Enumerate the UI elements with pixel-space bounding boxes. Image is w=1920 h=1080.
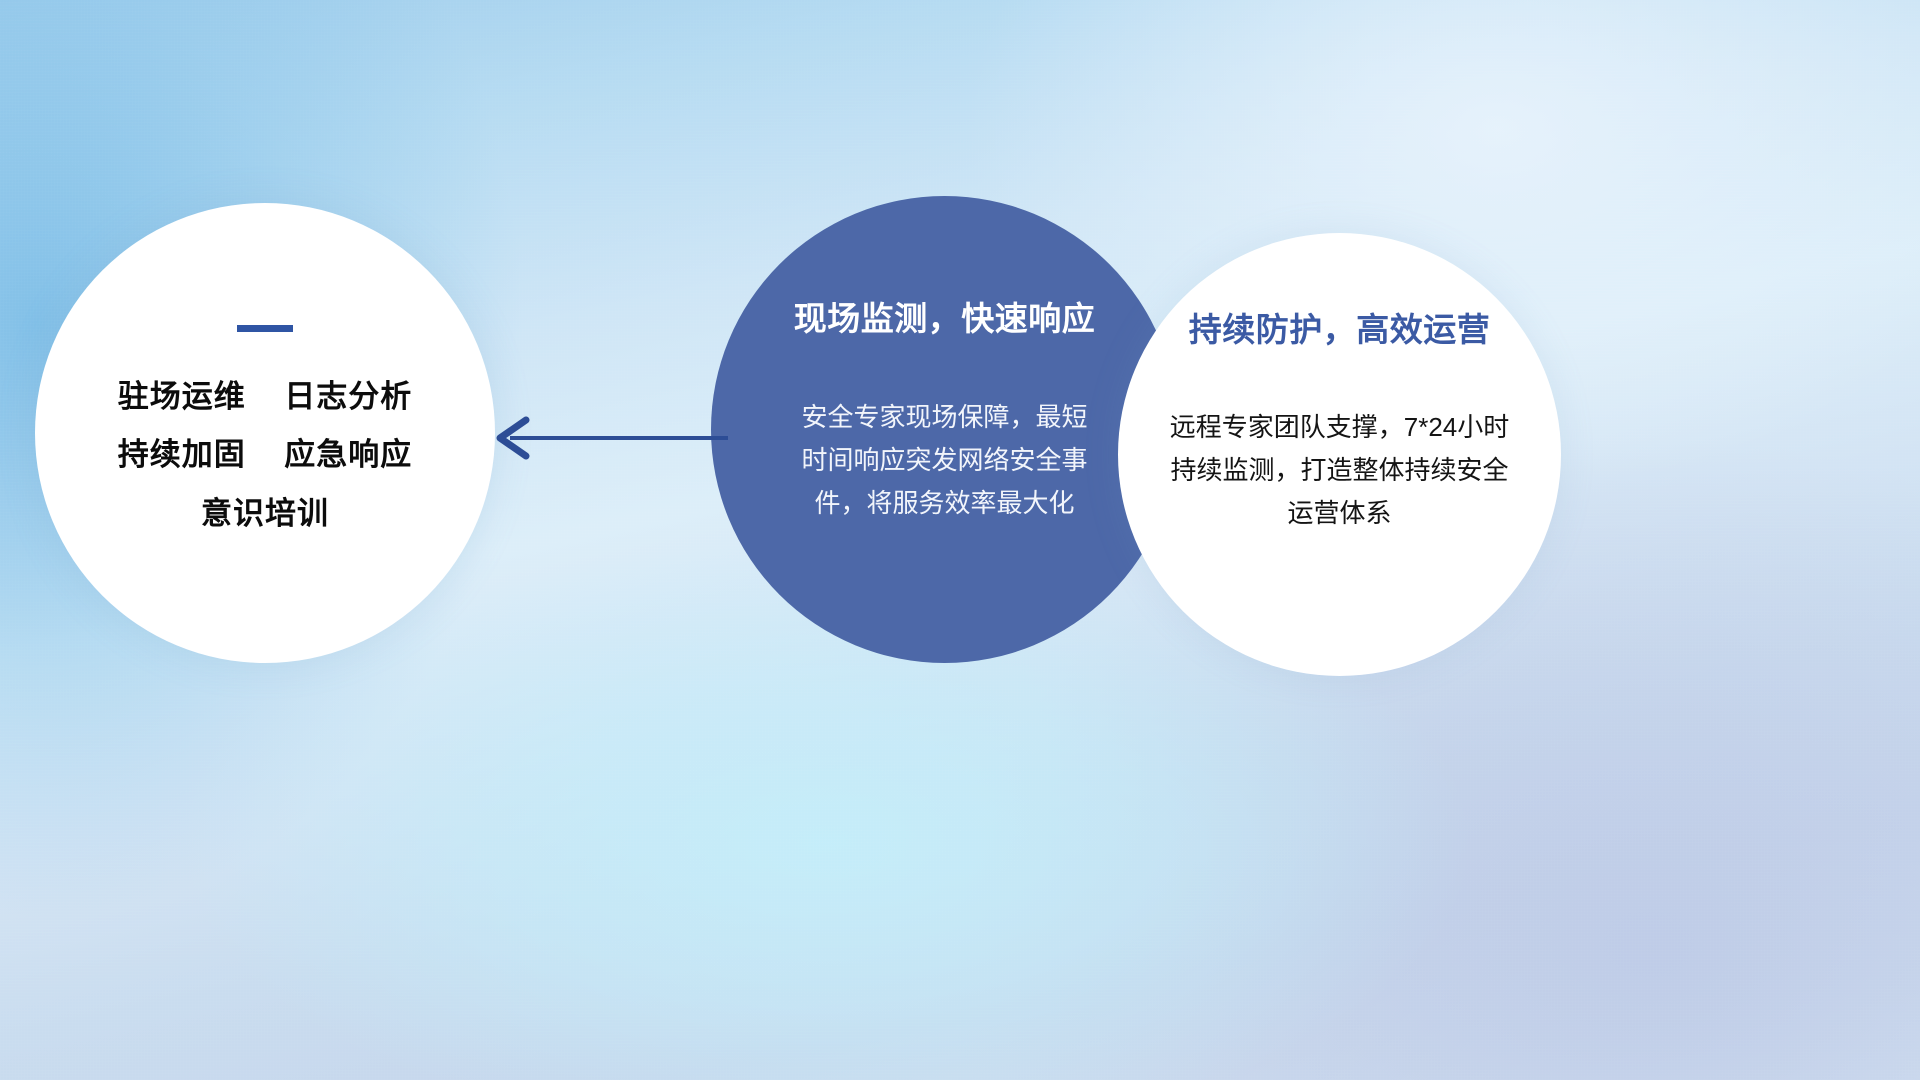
list-item: 持续加固 应急响应: [35, 426, 495, 484]
left-keywords-circle: 驻场运维 日志分析 持续加固 应急响应 意识培训: [35, 203, 495, 663]
left-arrow-icon: [480, 408, 730, 468]
list-item: 意识培训: [35, 485, 495, 543]
infographic-canvas: 驻场运维 日志分析 持续加固 应急响应 意识培训 现场监测，快速响应 安全专家现…: [0, 0, 1920, 1080]
onsite-monitoring-body: 安全专家现场保障，最短时间响应突发网络安全事件，将服务效率最大化: [795, 396, 1095, 525]
list-item: 驻场运维 日志分析: [35, 368, 495, 426]
continuous-protection-circle: 持续防护，高效运营 远程专家团队支撑，7*24小时持续监测，打造整体持续安全运营…: [1118, 233, 1561, 676]
onsite-monitoring-circle: 现场监测，快速响应 安全专家现场保障，最短时间响应突发网络安全事件，将服务效率最…: [711, 196, 1178, 663]
onsite-monitoring-heading: 现场监测，快速响应: [794, 292, 1096, 340]
continuous-protection-body: 远程专家团队支撑，7*24小时持续监测，打造整体持续安全运营体系: [1159, 406, 1521, 535]
left-keyword-list: 驻场运维 日志分析 持续加固 应急响应 意识培训: [35, 368, 495, 543]
continuous-protection-heading: 持续防护，高效运营: [1189, 303, 1491, 351]
accent-divider: [237, 325, 293, 332]
